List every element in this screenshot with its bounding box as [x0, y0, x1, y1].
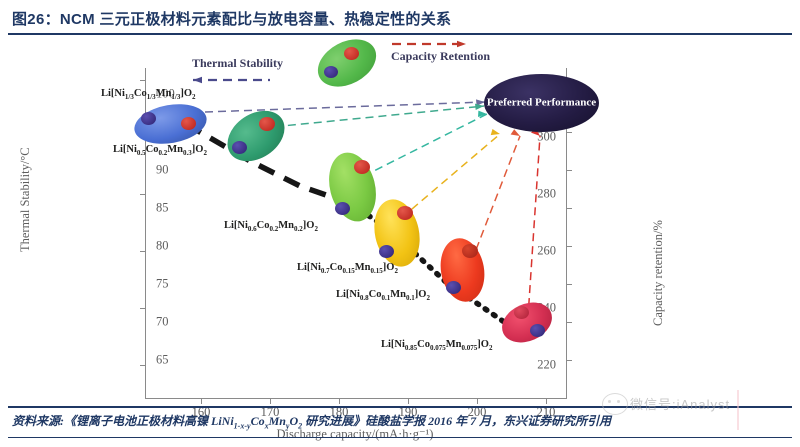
y2-axis-title: Capacity retention/%	[651, 220, 666, 326]
ncm811-thermal-dot-icon	[446, 281, 461, 294]
y2-tick-label: 75	[156, 277, 169, 292]
figure-panel: 图26：NCM 三元正极材料元素配比与放电容量、热稳定性的关系 Thermal …	[0, 0, 800, 447]
figure-header: 图26：NCM 三元正极材料元素配比与放电容量、热稳定性的关系	[0, 0, 800, 36]
source-citation: 资料来源:《锂离子电池正极材料高镍 LiNi1-x-yCoxMnyO2 研究进展…	[12, 412, 611, 430]
point-label-ncm622: Li[Ni0.6Co0.2Mn0.2]O2	[224, 220, 318, 233]
point-label-ncm71515: Li[Ni0.7Co0.15Mn0.15]O2	[297, 262, 398, 275]
preferred-performance-label: Preferred Performance	[484, 97, 599, 110]
ncm622-thermal-dot-icon	[335, 202, 350, 215]
y-tick-label: 260	[537, 244, 556, 259]
ncm811-capacity-dot-icon	[462, 244, 478, 258]
point-label-ncm111: Li[Ni1/3Co1/3Mn1/3]O2	[101, 88, 196, 101]
ncm523-capacity-dot-icon	[259, 117, 275, 131]
chart-canvas: Thermal Stability Capacity Retention 220…	[0, 36, 800, 404]
preferred-performance-callout: Preferred Performance	[484, 74, 599, 132]
y-tick-label: 280	[537, 187, 556, 202]
y-axis-title: Thermal Stability/°C	[18, 147, 33, 252]
point-label-ncm523: Li[Ni0.5Co0.2Mn0.3]O2	[113, 144, 207, 157]
ncm71515-capacity-dot-icon	[397, 206, 413, 220]
y2-tick-label: 65	[156, 353, 169, 368]
ncm622-capacity-dot-icon	[354, 160, 370, 174]
ncm85-capacity-dot-icon	[514, 306, 529, 319]
y2-tick-label: 90	[156, 163, 169, 178]
ncm111-thermal-dot-icon	[141, 112, 156, 125]
ncm71515-thermal-dot-icon	[379, 245, 394, 258]
ncm111-capacity-dot-icon	[181, 117, 196, 130]
y-tick-label: 220	[537, 358, 556, 373]
y2-tick-label: 80	[156, 239, 169, 254]
header-divider	[8, 33, 792, 35]
point-label-ncm85: Li[Ni0.85Co0.075Mn0.075]O2	[381, 339, 492, 352]
footer-divider-bottom	[8, 437, 792, 438]
legend-capacity-retention-label: Capacity Retention	[391, 49, 490, 64]
point-label-ncm811: Li[Ni0.8Co0.1Mn0.1]O2	[336, 289, 430, 302]
ncm523-thermal-dot-icon	[232, 141, 247, 154]
y2-tick-label: 70	[156, 315, 169, 330]
ncm85-thermal-dot-icon	[530, 324, 545, 337]
figure-title: 图26：NCM 三元正极材料元素配比与放电容量、热稳定性的关系	[12, 8, 451, 29]
y2-tick-label: 85	[156, 201, 169, 216]
footer-divider-top	[8, 406, 792, 408]
legend-capacity-marker-dot-icon	[344, 47, 359, 60]
